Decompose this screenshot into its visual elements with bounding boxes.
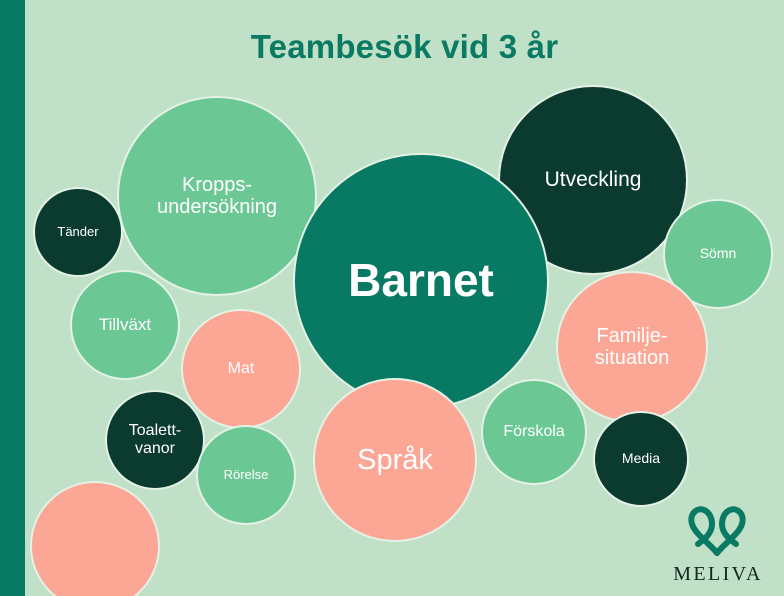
meliva-logo: MELIVA bbox=[666, 498, 770, 586]
bubble-språk[interactable]: Språk bbox=[313, 378, 477, 542]
meliva-wordmark: MELIVA bbox=[673, 563, 763, 586]
bubble-tillväxt[interactable]: Tillväxt bbox=[70, 270, 180, 380]
bubble-rörelse[interactable]: Rörelse bbox=[196, 425, 296, 525]
bubble-förskola[interactable]: Förskola bbox=[481, 379, 587, 485]
bubble-unlabeled[interactable] bbox=[30, 481, 160, 596]
bubble-label: Tillväxt bbox=[95, 315, 155, 334]
bubble-label: Familje-situation bbox=[591, 325, 674, 370]
bubble-toalett-vanor[interactable]: Toalett-vanor bbox=[105, 390, 205, 490]
bubble-kropps-undersökning[interactable]: Kropps-undersökning bbox=[117, 96, 317, 296]
poster-canvas: Teambesök vid 3 år TänderKropps-undersök… bbox=[0, 0, 784, 596]
bubble-media[interactable]: Media bbox=[593, 411, 689, 507]
bubble-label: Mat bbox=[224, 360, 259, 378]
bubble-tänder[interactable]: Tänder bbox=[33, 187, 123, 277]
bubble-label: Tänder bbox=[53, 225, 102, 240]
bubble-mat[interactable]: Mat bbox=[181, 309, 301, 429]
bubble-label: Språk bbox=[353, 444, 437, 476]
bubble-label: Barnet bbox=[344, 255, 498, 307]
bubble-familje-situation[interactable]: Familje-situation bbox=[556, 271, 708, 423]
meliva-heart-mark bbox=[683, 503, 753, 559]
bubble-label: Toalett-vanor bbox=[125, 422, 185, 458]
bubble-barnet[interactable]: Barnet bbox=[293, 153, 549, 409]
bubble-label: Media bbox=[618, 451, 664, 467]
bubble-label: Rörelse bbox=[220, 468, 273, 483]
bubble-label: Kropps-undersökning bbox=[153, 174, 281, 219]
bubble-label: Förskola bbox=[499, 423, 568, 441]
bubble-label: Sömn bbox=[696, 246, 741, 262]
bubble-label: Utveckling bbox=[541, 168, 646, 192]
